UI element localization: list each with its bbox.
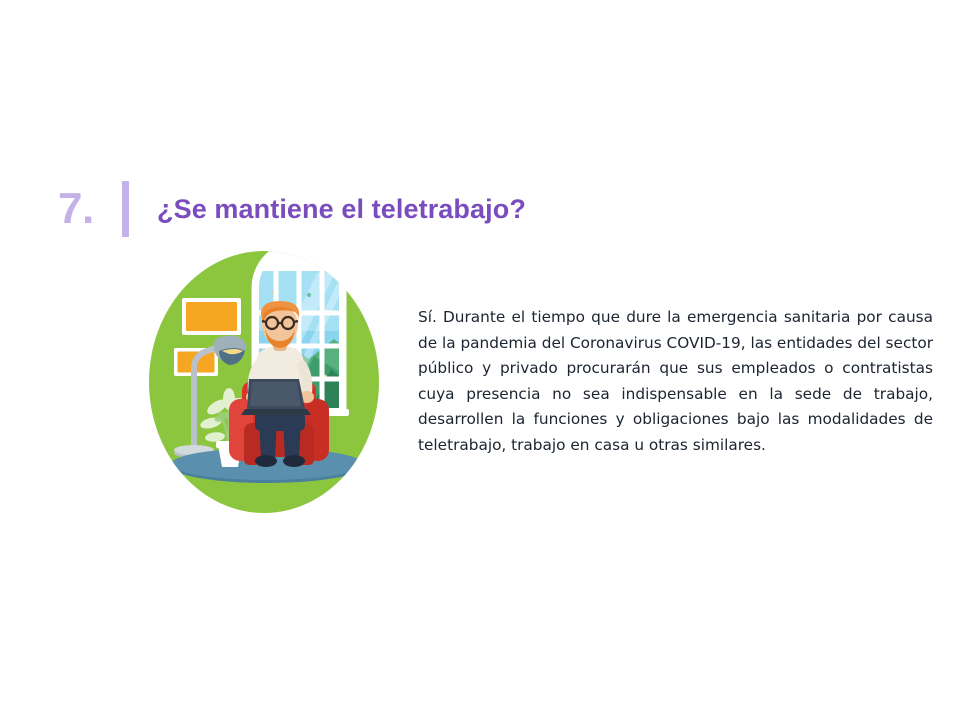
page-title: ¿Se mantiene el teletrabajo? (157, 194, 526, 225)
question-number: 7. (58, 187, 122, 231)
heading-divider-bar (122, 181, 129, 237)
illustration-man-working-from-home (149, 251, 379, 513)
heading-row: 7. ¿Se mantiene el teletrabajo? (58, 178, 526, 240)
slide-canvas: 7. ¿Se mantiene el teletrabajo? (0, 0, 960, 720)
answer-paragraph: Sí. Durante el tiempo que dure la emerge… (418, 305, 933, 458)
picture-frame-large (182, 298, 241, 335)
